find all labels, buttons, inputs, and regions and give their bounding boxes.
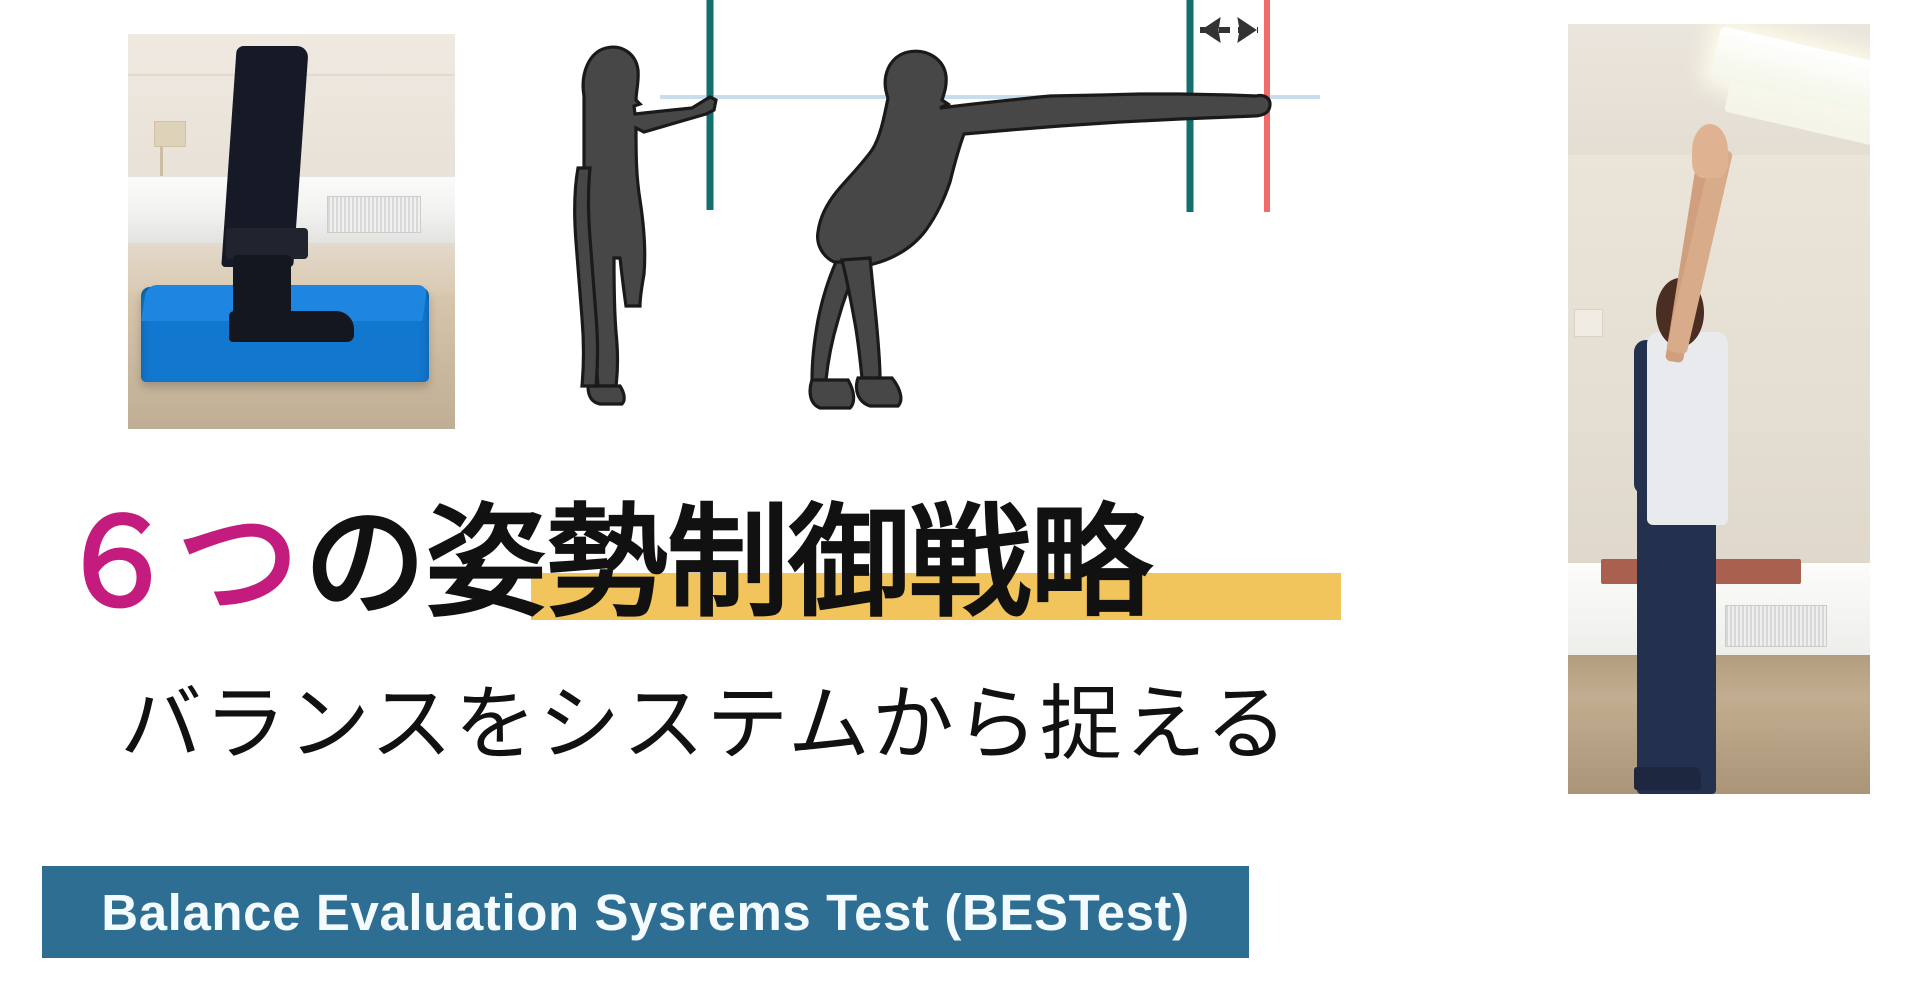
wall-thermostat bbox=[154, 121, 185, 147]
page-subtitle: バランスをシステムから捉える bbox=[120, 680, 1300, 770]
person-shoe bbox=[1634, 767, 1700, 790]
title-accent-number: ６つ bbox=[56, 495, 298, 631]
vent-grille bbox=[1725, 605, 1827, 647]
page-title: ６つの姿勢制御戦略 bbox=[56, 500, 1286, 650]
banner-text: Balance Evaluation Sysrems Test (BESTest… bbox=[101, 883, 1189, 942]
upright-standing-silhouette bbox=[575, 47, 716, 404]
person-shirt bbox=[1647, 332, 1729, 525]
vent-grille bbox=[327, 196, 421, 234]
poster-canvas: ６つの姿勢制御戦略 バランスをシステムから捉える Balance Evaluat… bbox=[0, 0, 1920, 1005]
forward-lean-silhouette bbox=[810, 51, 1270, 408]
overhead-reach-photo bbox=[1568, 24, 1870, 794]
foot-on-foam-pad-photo bbox=[128, 34, 455, 429]
postural-lean-diagram bbox=[540, 0, 1320, 420]
wall-switch bbox=[1574, 309, 1603, 337]
room-floor bbox=[1568, 655, 1870, 794]
person-hands-overhead bbox=[1692, 124, 1728, 178]
title-text: ６つの姿勢制御戦略 bbox=[56, 500, 1286, 626]
foot-on-pad bbox=[229, 311, 353, 343]
status-banner: Balance Evaluation Sysrems Test (BESTest… bbox=[42, 866, 1249, 958]
title-main: の姿勢制御戦略 bbox=[304, 495, 1151, 631]
double-headed-dashed-arrow bbox=[1200, 18, 1258, 42]
